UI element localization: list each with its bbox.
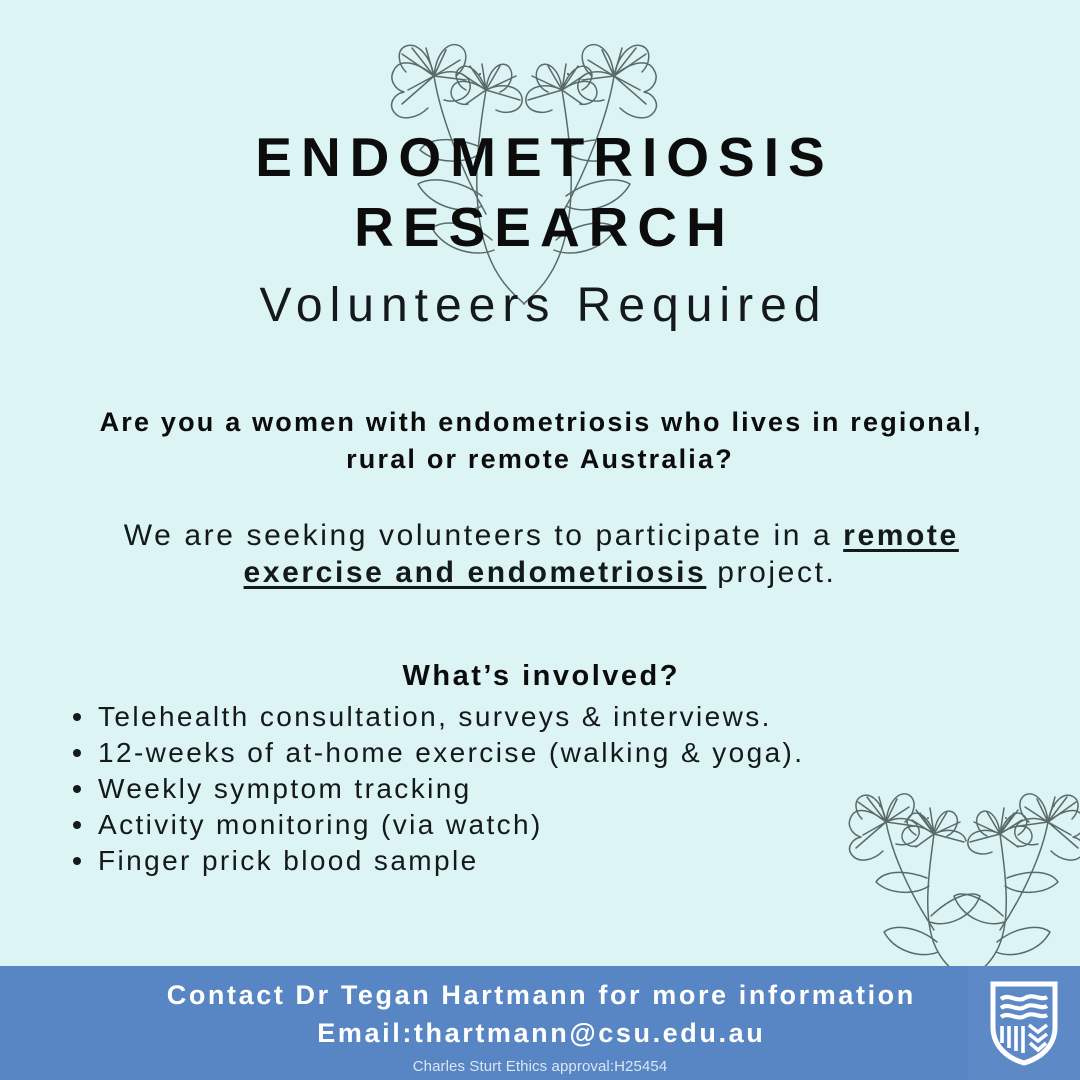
bullet-icon bbox=[73, 713, 81, 721]
list-item: Finger prick blood sample bbox=[72, 843, 804, 879]
list-item-label: 12-weeks of at-home exercise (walking & … bbox=[98, 737, 804, 768]
page-title-line-2: RESEARCH bbox=[0, 192, 1080, 262]
page-subtitle: Volunteers Required bbox=[0, 277, 1080, 335]
intro-text-after: project. bbox=[706, 556, 836, 589]
involved-list: Telehealth consultation, surveys & inter… bbox=[72, 699, 804, 879]
list-item: Telehealth consultation, surveys & inter… bbox=[72, 699, 804, 735]
list-item-label: Finger prick blood sample bbox=[98, 845, 479, 876]
list-item-label: Activity monitoring (via watch) bbox=[98, 809, 543, 840]
contact-email-line[interactable]: Email:thartmann@csu.edu.au bbox=[0, 1014, 1080, 1052]
page-title: ENDOMETRIOSIS RESEARCH bbox=[0, 122, 1080, 262]
bullet-icon bbox=[73, 857, 81, 865]
intro-text-before: We are seeking volunteers to participate… bbox=[124, 519, 843, 552]
floral-decoration-bottom-icon bbox=[842, 782, 1080, 987]
charles-sturt-shield-icon bbox=[989, 980, 1059, 1066]
poster: ENDOMETRIOSIS RESEARCH Volunteers Requir… bbox=[0, 0, 1080, 1080]
eligibility-question: Are you a women with endometriosis who l… bbox=[60, 404, 1020, 478]
list-item: Activity monitoring (via watch) bbox=[72, 807, 804, 843]
involved-heading: What’s involved? bbox=[0, 660, 1080, 693]
intro-paragraph: We are seeking volunteers to participate… bbox=[48, 517, 1032, 591]
list-item-label: Telehealth consultation, surveys & inter… bbox=[98, 701, 772, 732]
footer-band: Contact Dr Tegan Hartmann for more infor… bbox=[0, 966, 1080, 1080]
bullet-icon bbox=[73, 749, 81, 757]
list-item: Weekly symptom tracking bbox=[72, 771, 804, 807]
page-title-line-1: ENDOMETRIOSIS bbox=[255, 126, 833, 188]
list-item: 12-weeks of at-home exercise (walking & … bbox=[72, 735, 804, 771]
bullet-icon bbox=[73, 821, 81, 829]
ethics-approval-text: Charles Sturt Ethics approval:H25454 bbox=[0, 1058, 1080, 1075]
list-item-label: Weekly symptom tracking bbox=[98, 773, 472, 804]
contact-name-line: Contact Dr Tegan Hartmann for more infor… bbox=[0, 976, 1080, 1014]
bullet-icon bbox=[73, 785, 81, 793]
university-logo bbox=[968, 966, 1080, 1080]
contact-block: Contact Dr Tegan Hartmann for more infor… bbox=[0, 976, 1080, 1052]
